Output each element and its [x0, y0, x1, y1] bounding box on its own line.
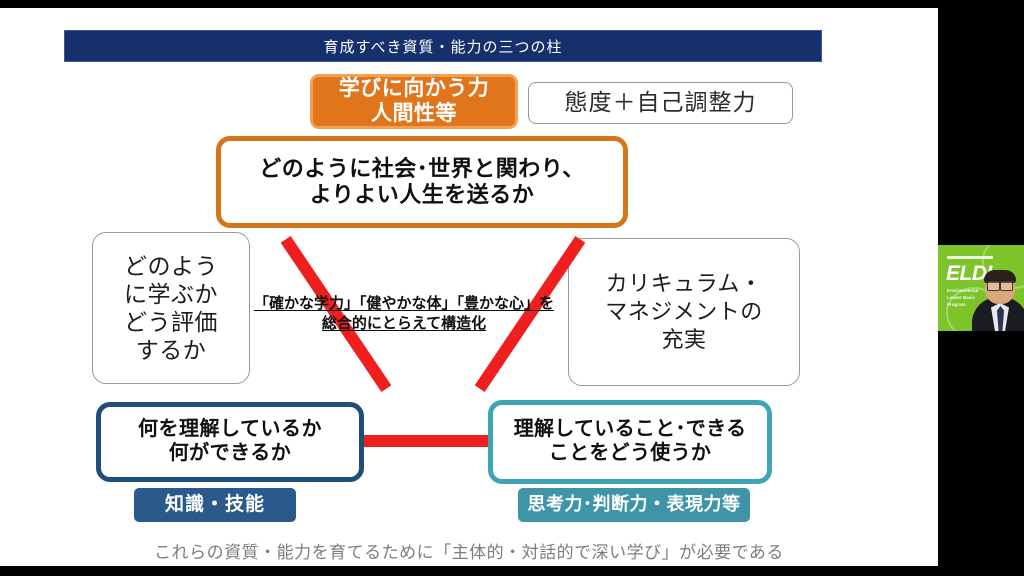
tag-thinking-judgement-expression-label: 思考力･判断力・表現力等	[528, 494, 741, 515]
presenter-avatar	[972, 269, 1024, 331]
tag-knowledge-skills-label: 知識・技能	[165, 494, 265, 516]
center-annotation: 「確かな学力」「健やかな体」「豊かな心」を 総合的にとらえて構造化	[250, 294, 558, 335]
box-attitude-pillar-label: 学びに向かう力 人間性等	[339, 77, 490, 127]
box-how-to-learn: どのよう に学ぶか どう評価 するか	[92, 232, 250, 384]
glasses-icon	[1000, 281, 1013, 291]
slide-title: 育成すべき資質・能力の三つの柱	[324, 36, 563, 57]
box-how-to-learn-label: どのよう に学ぶか どう評価 するか	[124, 252, 218, 364]
center-annotation-label: 「確かな学力」「健やかな体」「豊かな心」を 総合的にとらえて構造化	[254, 294, 554, 335]
box-curriculum-management: カリキュラム・ マネジメントの 充実	[568, 238, 800, 386]
slide-footer-label: これらの資質・能力を育てるために「主体的・対話的で深い学び」が必要である	[154, 543, 784, 562]
box-how-to-use-understanding: 理解していること･できる ことをどう使うか	[488, 400, 772, 484]
box-what-is-understood-label: 何を理解しているか 何ができるか	[138, 418, 322, 465]
slide-footer: これらの資質・能力を育てるために「主体的・対話的で深い学び」が必要である	[0, 538, 938, 563]
screen-share-view: 育成すべき資質・能力の三つの柱 学びに向かう力 人間性等 態度＋自己調整力 どの…	[0, 0, 1024, 576]
presenter-webcam-tile[interactable]: ELDI Environmental Leader Basic Program	[938, 245, 1024, 331]
slide-title-bar: 育成すべき資質・能力の三つの柱	[64, 30, 822, 62]
box-what-is-understood: 何を理解しているか 何ができるか	[96, 402, 364, 482]
box-how-to-use-understanding-label: 理解していること･できる ことをどう使うか	[514, 418, 747, 465]
box-how-to-relate-to-society-label: どのように社会･世界と関わり、 よりよい人生を送るか	[259, 156, 585, 208]
presentation-slide: 育成すべき資質・能力の三つの柱 学びに向かう力 人間性等 態度＋自己調整力 どの…	[0, 8, 938, 566]
glasses-icon	[987, 281, 1000, 291]
tag-thinking-judgement-expression: 思考力･判断力・表現力等	[516, 486, 752, 524]
brand-rule	[947, 256, 993, 259]
box-how-to-relate-to-society: どのように社会･世界と関わり、 よりよい人生を送るか	[216, 136, 628, 228]
box-curriculum-management-label: カリキュラム・ マネジメントの 充実	[605, 270, 763, 353]
box-attitude-note: 態度＋自己調整力	[528, 82, 793, 124]
letterbox-top	[0, 0, 1024, 8]
tag-knowledge-skills: 知識・技能	[132, 486, 298, 524]
letterbox-bottom	[0, 566, 1024, 576]
box-attitude-note-label: 態度＋自己調整力	[565, 89, 757, 116]
box-attitude-pillar: 学びに向かう力 人間性等	[310, 74, 518, 129]
